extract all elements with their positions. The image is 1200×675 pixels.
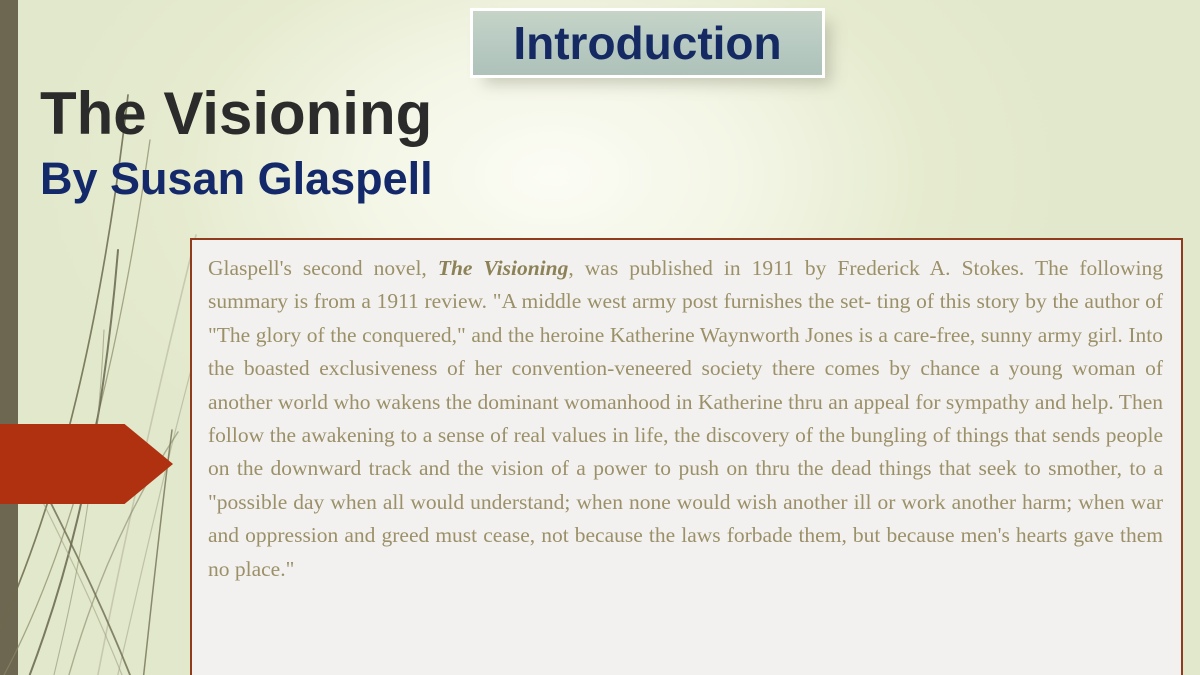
work-title-emphasis: The Visioning [438,256,569,280]
summary-text-body: , was published in 1911 by Frederick A. … [208,256,1163,581]
summary-paragraph: Glaspell's second novel, The Visioning, … [208,252,1163,586]
summary-content-box: Glaspell's second novel, The Visioning, … [190,238,1183,675]
page-title: The Visioning [40,80,432,148]
slide-canvas: Introduction The Visioning By Susan Glas… [0,0,1200,675]
page-subtitle-author: By Susan Glaspell [40,153,433,205]
red-arrow-callout-icon [0,424,173,504]
section-banner-label: Introduction [513,20,781,66]
left-accent-band [0,0,18,675]
summary-text-lead: Glaspell's second novel, [208,256,438,280]
section-banner: Introduction [470,8,825,78]
